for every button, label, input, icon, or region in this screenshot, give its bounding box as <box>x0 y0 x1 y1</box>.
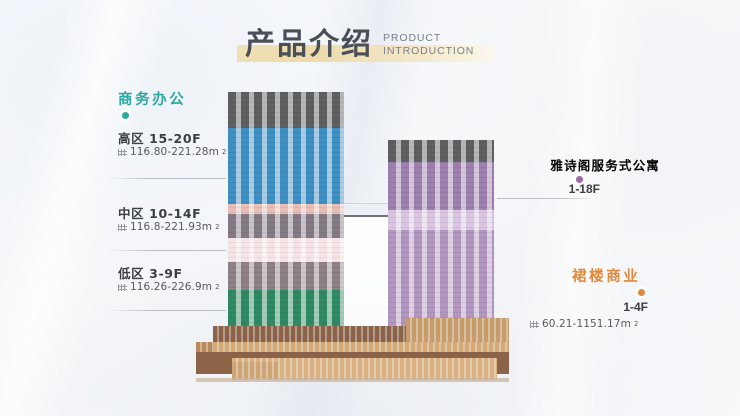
callout-apartment-floors: 1-18F <box>460 182 600 196</box>
group-label-office: 商务办公 <box>118 88 186 109</box>
podium-area-unit: 2 <box>634 320 639 328</box>
building-elevation-diagram <box>0 0 740 416</box>
zone-title-low: 低区 3-9F <box>118 263 183 282</box>
zone-area-mid: 116.8-221.93m2 <box>118 221 220 233</box>
zone-area-high-value: 116.80-221.28m <box>130 146 219 158</box>
area-grid-icon <box>530 320 539 329</box>
area-grid-icon <box>118 223 127 232</box>
tower-gap <box>344 214 390 328</box>
apartment-floors: 1-18F <box>460 182 600 196</box>
office-tower-floorlines <box>228 92 344 328</box>
zone-title-mid: 中区 10-14F <box>118 203 201 222</box>
sky-bridge <box>344 203 390 217</box>
zone-area-low-value: 116.26-226.9m <box>130 281 212 293</box>
zone-area-low: 116.26-226.9m2 <box>118 281 220 293</box>
podium-area: 60.21-1151.17m2 <box>530 318 638 330</box>
divider-high <box>108 178 226 179</box>
podium-texture <box>406 318 509 342</box>
podium-upper-right <box>406 318 509 342</box>
ground-line <box>196 378 509 382</box>
callout-apartment: 雅诗阁服务式公寓 <box>460 155 660 174</box>
office-tower <box>228 92 344 328</box>
zone-area-mid-value: 116.8-221.93m <box>130 221 212 233</box>
zone-area-low-unit: 2 <box>215 283 220 291</box>
zone-title-high: 高区 15-20F <box>118 128 201 147</box>
podium-area-value: 60.21-1151.17m <box>542 318 631 330</box>
zone-area-high-unit: 2 <box>222 148 227 156</box>
zone-area-high: 116.80-221.28m2 <box>118 146 226 158</box>
group-label-podium: 裙楼商业 <box>572 265 640 286</box>
zone-area-mid-unit: 2 <box>215 223 220 231</box>
connector-apartment <box>497 198 599 199</box>
bullet-dot-icon <box>638 289 645 296</box>
apartment-label: 雅诗阁服务式公寓 <box>460 155 660 174</box>
callout-podium-floors: 1-4F <box>500 300 648 314</box>
podium-floors: 1-4F <box>500 300 648 314</box>
area-grid-icon <box>118 148 127 157</box>
bullet-dot-icon <box>122 112 129 119</box>
podium-upper-left <box>213 326 406 342</box>
divider-low <box>108 310 226 311</box>
divider-mid <box>108 250 226 251</box>
podium-texture <box>213 326 406 342</box>
area-grid-icon <box>118 283 127 292</box>
slide-canvas: 产品介绍 PRODUCT INTRODUCTION <box>0 0 740 416</box>
